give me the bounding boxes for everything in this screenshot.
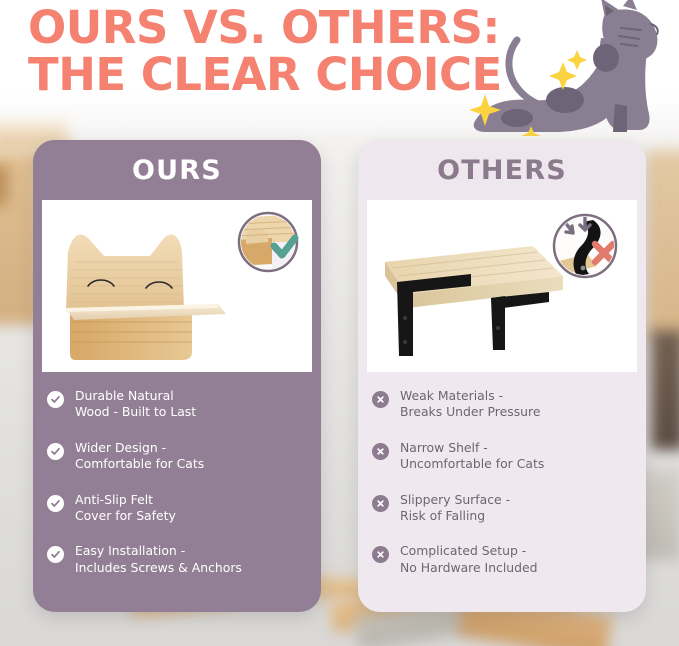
feature-item: Weak Materials - Breaks Under Pressure: [372, 388, 632, 421]
check-circle-icon: [47, 443, 64, 460]
feature-item: Durable Natural Wood - Built to Last: [47, 388, 307, 421]
ours-card-header: OURS: [33, 140, 321, 200]
check-circle-icon: [47, 495, 64, 512]
feature-text: Wider Design - Comfortable for Cats: [75, 440, 204, 473]
feature-item: Complicated Setup - No Hardware Included: [372, 543, 632, 576]
cross-circle-icon: [372, 546, 389, 563]
feature-text: Narrow Shelf - Uncomfortable for Cats: [400, 440, 544, 473]
ours-card-title: OURS: [132, 155, 222, 186]
feature-text: Weak Materials - Breaks Under Pressure: [400, 388, 540, 421]
feature-text: Complicated Setup - No Hardware Included: [400, 543, 538, 576]
cross-circle-icon: [372, 391, 389, 408]
check-circle-icon: [47, 391, 64, 408]
cat-illustration: [455, 0, 679, 136]
others-feature-list: Weak Materials - Breaks Under Pressure N…: [358, 372, 646, 576]
background-wood-left-2: [0, 165, 8, 205]
ours-feature-list: Durable Natural Wood - Built to Last Wid…: [33, 372, 321, 576]
feature-item: Narrow Shelf - Uncomfortable for Cats: [372, 440, 632, 473]
others-product-photo: [367, 200, 637, 372]
feature-text: Easy Installation - Includes Screws & An…: [75, 543, 242, 576]
cross-circle-icon: [372, 443, 389, 460]
feature-item: Wider Design - Comfortable for Cats: [47, 440, 307, 473]
check-circle-icon: [47, 546, 64, 563]
others-card-title: OTHERS: [437, 155, 567, 186]
background-wood-right-2: [651, 330, 679, 450]
cross-circle-icon: [372, 495, 389, 512]
feature-text: Anti-Slip Felt Cover for Safety: [75, 492, 176, 525]
feature-item: Slippery Surface - Risk of Falling: [372, 492, 632, 525]
feature-text: Slippery Surface - Risk of Falling: [400, 492, 510, 525]
others-card-header: OTHERS: [358, 140, 646, 200]
background-wood-right-1: [647, 150, 679, 340]
feature-item: Anti-Slip Felt Cover for Safety: [47, 492, 307, 525]
comparison-card-ours: OURS: [33, 140, 321, 612]
ours-product-photo: [42, 200, 312, 372]
feature-text: Durable Natural Wood - Built to Last: [75, 388, 196, 421]
feature-item: Easy Installation - Includes Screws & An…: [47, 543, 307, 576]
headline-line-2: THE CLEAR CHOICE: [28, 52, 502, 97]
comparison-card-others: OTHERS: [358, 140, 646, 612]
headline-line-1: OURS VS. OTHERS:: [28, 5, 500, 50]
